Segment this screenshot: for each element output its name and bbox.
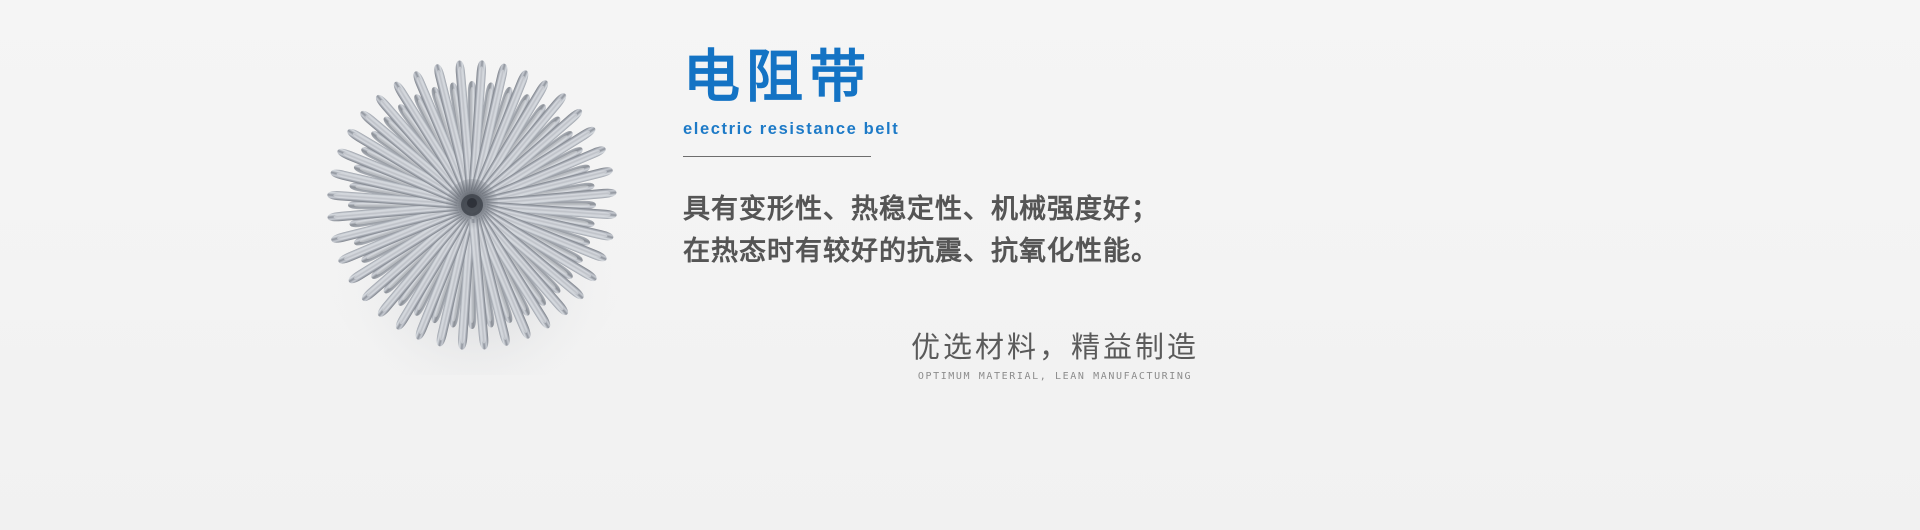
page-title: 电阻带 bbox=[683, 44, 1383, 110]
product-image bbox=[300, 55, 645, 375]
description-line-1: 具有变形性、热稳定性、机械强度好； bbox=[683, 189, 1383, 231]
description-line-2: 在热态时有较好的抗震、抗氧化性能。 bbox=[683, 231, 1383, 273]
tagline-chinese: 优选材料，精益制造 bbox=[775, 325, 1335, 369]
banner-content: 电阻带 electric resistance belt 具有变形性、热稳定性、… bbox=[683, 44, 1383, 273]
page-subtitle: electric resistance belt bbox=[683, 119, 1383, 139]
brand-tagline: 优选材料，精益制造 OPTIMUM MATERIAL, LEAN MANUFAC… bbox=[775, 325, 1335, 384]
product-banner: 电阻带 electric resistance belt 具有变形性、热稳定性、… bbox=[0, 0, 1920, 530]
product-description: 具有变形性、热稳定性、机械强度好； 在热态时有较好的抗震、抗氧化性能。 bbox=[683, 189, 1383, 273]
title-divider bbox=[683, 156, 871, 157]
tagline-english: OPTIMUM MATERIAL, LEAN MANUFACTURING bbox=[775, 370, 1335, 384]
